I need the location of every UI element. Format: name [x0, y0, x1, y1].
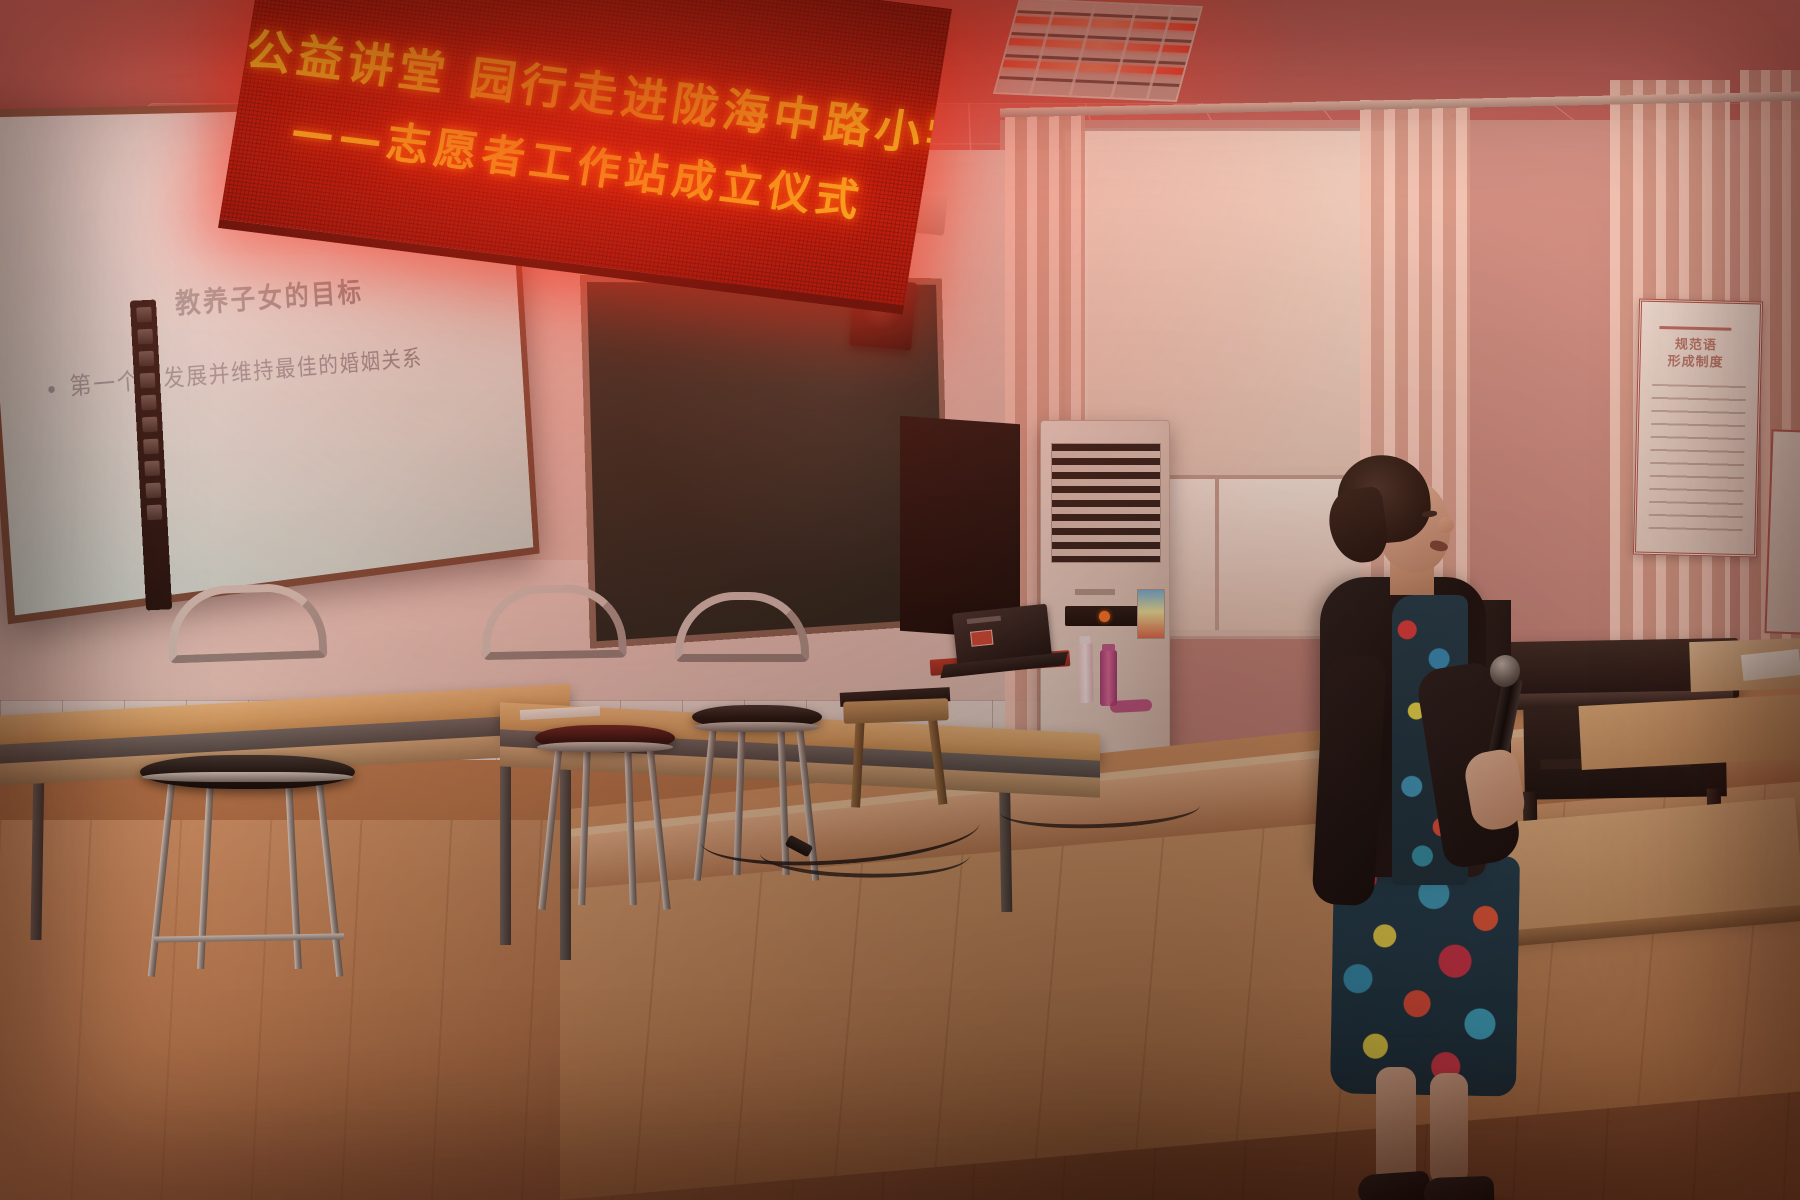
ac-grille: [1051, 443, 1161, 563]
presenter: [1280, 455, 1540, 1095]
classroom-scene: 规范语形成制度 教养子女的目标 第一个：发展并维持最佳的婚姻关系: [0, 0, 1800, 1200]
wall-poster: 规范语形成制度: [1633, 299, 1763, 558]
toolbar-icon-8[interactable]: [144, 461, 160, 477]
toolbar-icon-9[interactable]: [145, 483, 161, 499]
presenter-shoe-left: [1357, 1171, 1431, 1200]
water-bottle-2[interactable]: [1100, 650, 1117, 706]
toolbar-icon-5[interactable]: [140, 395, 156, 411]
toolbar-icon-10[interactable]: [146, 505, 162, 521]
presenter-shoe-right: [1423, 1176, 1494, 1200]
toolbar-icon-2[interactable]: [137, 329, 153, 345]
presenter-leg-right: [1430, 1073, 1468, 1185]
foreground-table-2: [1578, 694, 1800, 770]
stool-1[interactable]: [140, 755, 355, 995]
presenter-hair-side: [1325, 485, 1391, 566]
laptop-sticker: [970, 630, 993, 647]
toolbar-icon-3[interactable]: [138, 351, 154, 367]
toolbar-icon-7[interactable]: [143, 439, 159, 455]
water-bottle-1[interactable]: [1077, 643, 1093, 703]
pink-item-on-table[interactable]: [1110, 699, 1153, 713]
toolbar-icon-1[interactable]: [136, 307, 152, 323]
slide-bullet-1-text: 第一个：发展并维持最佳的婚姻关系: [69, 345, 424, 400]
slide-bullet-1: 第一个：发展并维持最佳的婚姻关系: [47, 333, 501, 403]
ac-control-panel[interactable]: [1065, 606, 1147, 626]
wall-poster-secondary: [1764, 429, 1800, 634]
presenter-nose: [1438, 517, 1454, 533]
bullet-dot-icon: [48, 385, 55, 392]
laptop[interactable]: [952, 603, 1063, 676]
chair-backrest-2[interactable]: [481, 584, 610, 654]
chair-backrest-3[interactable]: [675, 592, 793, 654]
table-leg-2: [500, 745, 511, 945]
toolbar-icon-6[interactable]: [142, 417, 158, 433]
wall-poster-title: 规范语形成制度: [1652, 336, 1739, 372]
ceiling-light-fixture: [993, 0, 1203, 102]
blackboard-dark-panel: [900, 416, 1020, 639]
chair-backrest-1[interactable]: [167, 583, 311, 658]
toolbar-icon-4[interactable]: [139, 373, 155, 389]
presenter-arm-left: [1312, 654, 1387, 907]
presenter-leg-left: [1376, 1067, 1416, 1185]
slide-title: 教养子女的目标: [0, 261, 518, 334]
ac-energy-label: [1137, 589, 1165, 639]
stool-2[interactable]: [535, 725, 675, 925]
